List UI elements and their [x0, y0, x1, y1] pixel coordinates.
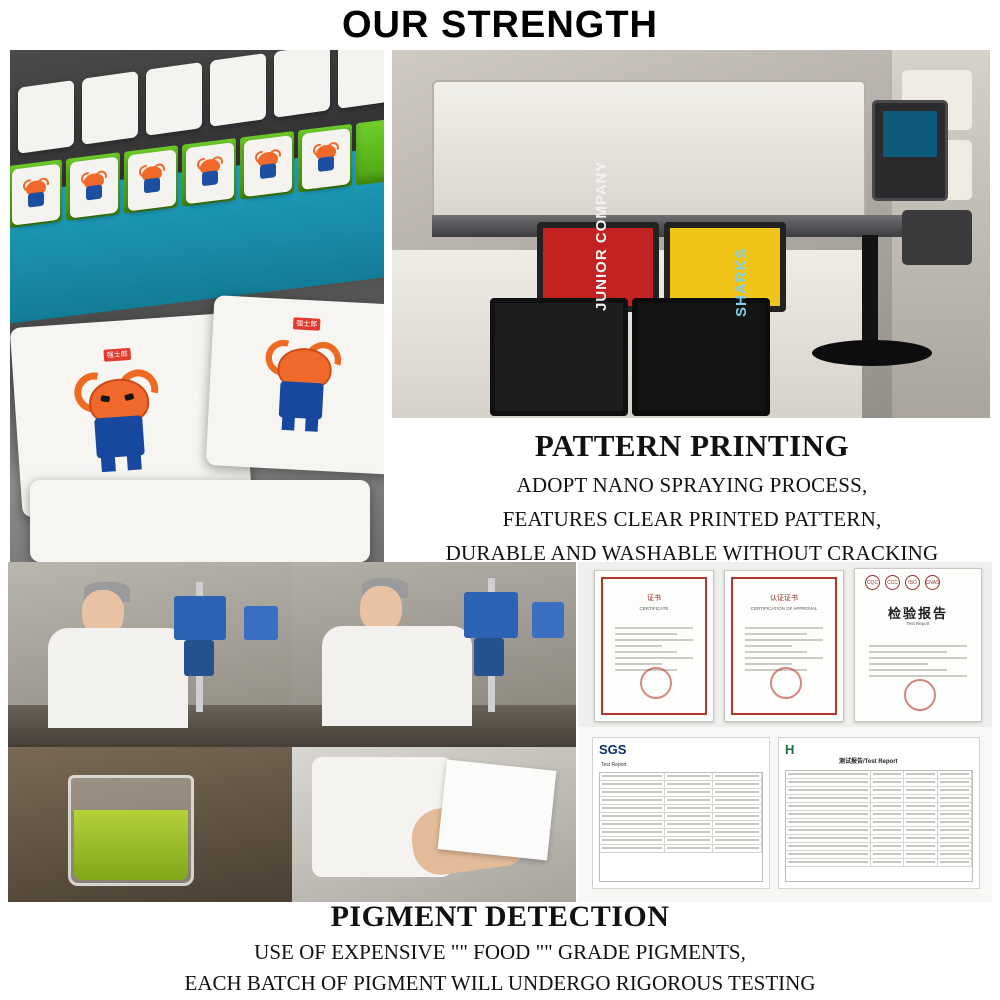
- mixer-shaft: [184, 640, 214, 676]
- printed-tshirt-junior-company: JUNIOR COMPANY: [490, 298, 628, 416]
- pigment-detection-line-2: EACH BATCH OF PIGMENT WILL UNDERGO RIGOR…: [0, 971, 1000, 996]
- mixer-shaft: [474, 638, 504, 676]
- fabric-swatch: [438, 759, 557, 860]
- certification-logos: CQC CCC ISO CNAS: [865, 575, 940, 590]
- third-party-report: H 测试报告/Test Report: [778, 737, 980, 889]
- pattern-printing-line-2: FEATURES CLEAR PRINTED PATTERN,: [392, 507, 992, 532]
- screen-printing-line-photo: 强士郎 强士郎: [10, 50, 384, 562]
- fabric-wash-test-photo: [292, 747, 576, 902]
- pattern-printing-title: PATTERN PRINTING: [392, 428, 992, 464]
- pattern-printing-line-1: ADOPT NANO SPRAYING PROCESS,: [392, 473, 992, 498]
- certificate-title-en: CERTIFICATION OF APPROVAL: [733, 606, 835, 611]
- pigment-detection-line-1: USE OF EXPENSIVE "" FOOD "" GRADE PIGMEN…: [0, 940, 1000, 965]
- lab-logo: H: [785, 742, 794, 757]
- certificate-3: CQC CCC ISO CNAS 检验报告 Test Report: [854, 568, 982, 722]
- printer-stand: [862, 235, 878, 350]
- test-reports-photo: SGS Test Report H 测试报告/Test Report: [578, 727, 992, 902]
- top-collage: 强士郎 强士郎 JUNIOR COMPA: [0, 50, 1000, 562]
- report-title-cn: 检验报告: [888, 603, 948, 622]
- tshirt-graphic-text: JUNIOR COMPANY: [593, 161, 610, 311]
- certificates-photo: 证书 CERTIFICATE 认证证书 CERTIFICATION OF APP…: [578, 562, 992, 727]
- report-caption: 测试报告/Test Report: [839, 756, 898, 765]
- printer-screen: [883, 111, 937, 157]
- pigment-beaker-photo: [8, 747, 292, 902]
- pigment-detection-title: PIGMENT DETECTION: [0, 900, 1000, 934]
- pattern-printing-text: PATTERN PRINTING ADOPT NANO SPRAYING PRO…: [392, 422, 992, 562]
- tshirt-graphic-text: SHARKS: [733, 248, 750, 317]
- lab-mixer-secondary: [244, 606, 278, 640]
- pigment-detection-text: PIGMENT DETECTION USE OF EXPENSIVE "" FO…: [0, 900, 1000, 1000]
- lab-technician-right-photo: [292, 562, 576, 747]
- tshirt-brand-tag: 强士郎: [293, 317, 321, 330]
- certificate-1: 证书 CERTIFICATE: [594, 570, 714, 722]
- sgs-report-caption: Test Report: [601, 762, 627, 768]
- sgs-report: SGS Test Report: [592, 737, 770, 889]
- tshirt-brand-tag: 强士郎: [103, 348, 131, 362]
- page-title: OUR STRENGTH: [0, 0, 1000, 50]
- finished-tshirt: [30, 480, 370, 562]
- certificate-title-cn: 认证证书: [733, 593, 835, 603]
- certificate-2: 认证证书 CERTIFICATION OF APPROVAL: [724, 570, 844, 722]
- certificate-seal: [770, 667, 802, 699]
- dtg-printer-photo: JUNIOR COMPANY SHARKS: [392, 50, 990, 418]
- certificate-title-en: CERTIFICATE: [603, 606, 705, 611]
- printer-body: [432, 80, 866, 224]
- finished-tshirt: 强士郎: [206, 295, 384, 475]
- cnas-logo-icon: CNAS: [925, 575, 940, 590]
- lab-mixer: [464, 592, 518, 638]
- lab-mixer: [174, 596, 226, 640]
- certificate-title-cn: 证书: [603, 593, 705, 603]
- green-pigment-liquid: [74, 810, 188, 880]
- lab-technician-left-photo: [8, 562, 292, 747]
- printer-base: [812, 340, 932, 366]
- glass-beaker: [68, 775, 194, 886]
- printed-tshirt-sharks: SHARKS: [632, 298, 770, 416]
- bottom-collage: 证书 CERTIFICATE 认证证书 CERTIFICATION OF APP…: [0, 562, 1000, 902]
- cqc-logo-icon: CQC: [865, 575, 880, 590]
- lab-mixer-secondary: [532, 602, 564, 638]
- printer-control-panel[interactable]: [872, 100, 948, 201]
- certificate-seal: [640, 667, 672, 699]
- report-seal: [904, 679, 936, 711]
- iso-logo-icon: ISO: [905, 575, 920, 590]
- ccc-logo-icon: CCC: [885, 575, 900, 590]
- sgs-logo: SGS: [599, 742, 626, 757]
